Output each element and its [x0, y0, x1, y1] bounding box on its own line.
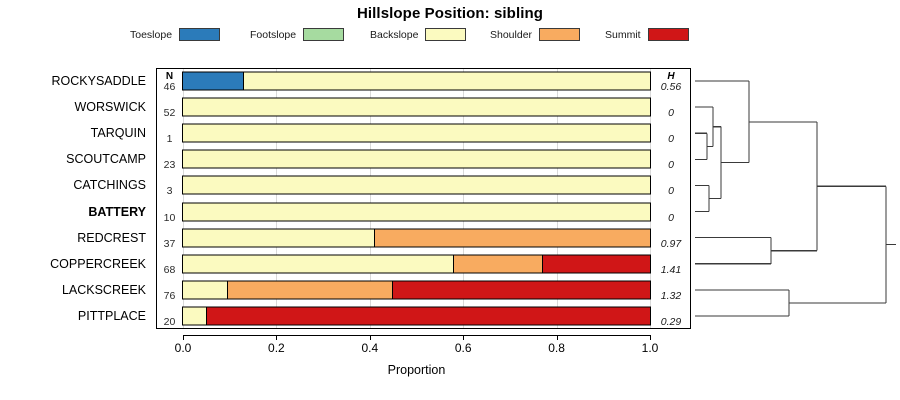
- x-tick-label: 0.6: [438, 341, 488, 355]
- bar-segment-summit[interactable]: [392, 280, 650, 299]
- x-tick: [557, 335, 558, 340]
- bar-row[interactable]: [183, 176, 650, 195]
- x-tick: [650, 335, 651, 340]
- bar-row[interactable]: [183, 280, 650, 299]
- row-label-scoutcamp[interactable]: SCOUTCAMP: [66, 152, 146, 166]
- row-label-catchings[interactable]: CATCHINGS: [73, 178, 146, 192]
- bar-segment-backslope[interactable]: [182, 306, 207, 325]
- page-title: Hillslope Position: sibling: [0, 5, 900, 22]
- x-tick-label: 0.4: [345, 341, 395, 355]
- legend-label: Shoulder: [490, 29, 532, 41]
- bar-segment-backslope[interactable]: [182, 254, 454, 273]
- bar-row[interactable]: [183, 124, 650, 143]
- bar-row[interactable]: [183, 150, 650, 169]
- bar-segment-backslope[interactable]: [182, 176, 650, 195]
- x-tick-label: 1.0: [625, 341, 675, 355]
- row-label-lackscreek[interactable]: LACKSCREEK: [62, 283, 146, 297]
- legend-item-footslope[interactable]: Footslope: [250, 26, 344, 43]
- legend-item-summit[interactable]: Summit: [605, 26, 689, 43]
- bar-row[interactable]: [183, 254, 650, 273]
- bar-segment-summit[interactable]: [542, 254, 651, 273]
- bar-segment-backslope[interactable]: [182, 280, 228, 299]
- dendrogram: [691, 60, 900, 340]
- bar-segment-shoulder[interactable]: [374, 228, 651, 247]
- x-tick-label: 0.2: [251, 341, 301, 355]
- legend-swatch-summit: [648, 28, 689, 41]
- legend-swatch-backslope: [425, 28, 466, 41]
- bar-row[interactable]: [183, 72, 650, 91]
- legend-label: Footslope: [250, 29, 296, 41]
- bar-row[interactable]: [183, 202, 650, 221]
- bar-segment-backslope[interactable]: [182, 150, 650, 169]
- bar-segment-toeslope[interactable]: [182, 72, 244, 91]
- row-label-column: ROCKYSADDLEWORSWICKTARQUINSCOUTCAMPCATCH…: [0, 68, 152, 329]
- x-tick: [463, 335, 464, 340]
- bar-segment-backslope[interactable]: [243, 72, 651, 91]
- row-label-coppercreek[interactable]: COPPERCREEK: [50, 257, 146, 271]
- bar-segment-shoulder[interactable]: [453, 254, 543, 273]
- legend-label: Toeslope: [130, 29, 172, 41]
- x-axis-line: [183, 335, 650, 336]
- legend-item-toeslope[interactable]: Toeslope: [130, 26, 220, 43]
- legend: ToeslopeFootslopeBackslopeShoulderSummit: [120, 26, 720, 43]
- row-label-battery[interactable]: BATTERY: [88, 205, 146, 219]
- bar-segment-summit[interactable]: [206, 306, 651, 325]
- chart-root: Hillslope Position: sibling ToeslopeFoot…: [0, 0, 900, 400]
- bar-segment-backslope[interactable]: [182, 202, 650, 221]
- bar-segment-backslope[interactable]: [182, 228, 375, 247]
- legend-item-shoulder[interactable]: Shoulder: [490, 26, 580, 43]
- row-label-worswick[interactable]: WORSWICK: [74, 100, 146, 114]
- bar-row[interactable]: [183, 306, 650, 325]
- x-tick: [183, 335, 184, 340]
- row-label-pittplace[interactable]: PITTPLACE: [78, 309, 146, 323]
- row-label-rockysaddle[interactable]: ROCKYSADDLE: [52, 74, 146, 88]
- row-label-tarquin[interactable]: TARQUIN: [91, 126, 146, 140]
- legend-label: Summit: [605, 29, 641, 41]
- bar-row[interactable]: [183, 228, 650, 247]
- x-tick-label: 0.0: [158, 341, 208, 355]
- x-tick: [370, 335, 371, 340]
- legend-item-backslope[interactable]: Backslope: [370, 26, 466, 43]
- x-axis-title: Proportion: [183, 363, 650, 377]
- legend-swatch-footslope: [303, 28, 344, 41]
- legend-swatch-shoulder: [539, 28, 580, 41]
- row-label-redcrest[interactable]: REDCREST: [77, 231, 146, 245]
- legend-swatch-toeslope: [179, 28, 220, 41]
- bar-segment-backslope[interactable]: [182, 98, 650, 117]
- bar-segment-backslope[interactable]: [182, 124, 650, 143]
- stacked-bars: [156, 68, 691, 329]
- bar-segment-shoulder[interactable]: [227, 280, 394, 299]
- x-tick: [276, 335, 277, 340]
- bar-row[interactable]: [183, 98, 650, 117]
- legend-label: Backslope: [370, 29, 418, 41]
- x-tick-label: 0.8: [532, 341, 582, 355]
